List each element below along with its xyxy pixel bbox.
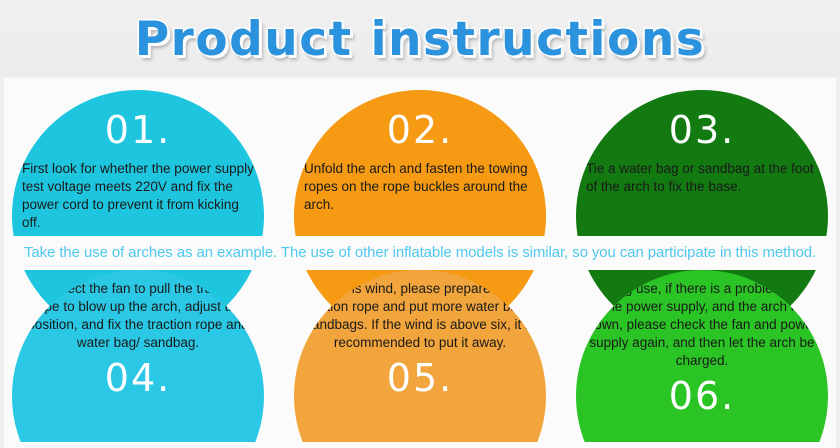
page-title: Product instructions [0,14,840,66]
step-number-03: 03. [584,108,820,152]
content-top-edge [4,78,836,86]
step-text-06: During use, if there is a problem with t… [584,280,820,370]
steps-content-area: 01. First look for whether the power sup… [4,78,836,448]
step-circle-04[interactable]: Connect the fan to pull the traction rop… [12,270,264,448]
step-circle-06[interactable]: During use, if there is a problem with t… [576,270,828,448]
step-number-01: 01. [20,108,256,152]
product-instructions-infographic: Product instructions 01. First look for … [0,0,840,448]
step-text-04: Connect the fan to pull the traction rop… [20,280,256,352]
step-circle-05[interactable]: If there is wind, please prepare a fixed… [294,270,546,448]
step-number-02: 02. [302,108,538,152]
step-circle-06-inner: During use, if there is a problem with t… [576,270,828,448]
step-text-01: First look for whether the power supply … [20,160,256,232]
step-text-02: Unfold the arch and fasten the towing ro… [302,160,538,214]
step-number-04: 04. [20,356,256,400]
middle-banner-text: Take the use of arches as an example. Th… [24,243,816,263]
step-number-06: 06. [584,374,820,418]
step-number-05: 05. [302,356,538,400]
step-circle-05-inner: If there is wind, please prepare a fixed… [294,270,546,448]
step-text-03: Tie a water bag or sandbag at the foot o… [584,160,820,196]
step-text-05: If there is wind, please prepare a fixed… [302,280,538,352]
title-band: Product instructions [0,0,840,76]
content-bottom-edge [4,442,836,448]
step-circle-04-inner: Connect the fan to pull the traction rop… [12,270,264,448]
middle-banner: Take the use of arches as an example. Th… [4,236,836,270]
